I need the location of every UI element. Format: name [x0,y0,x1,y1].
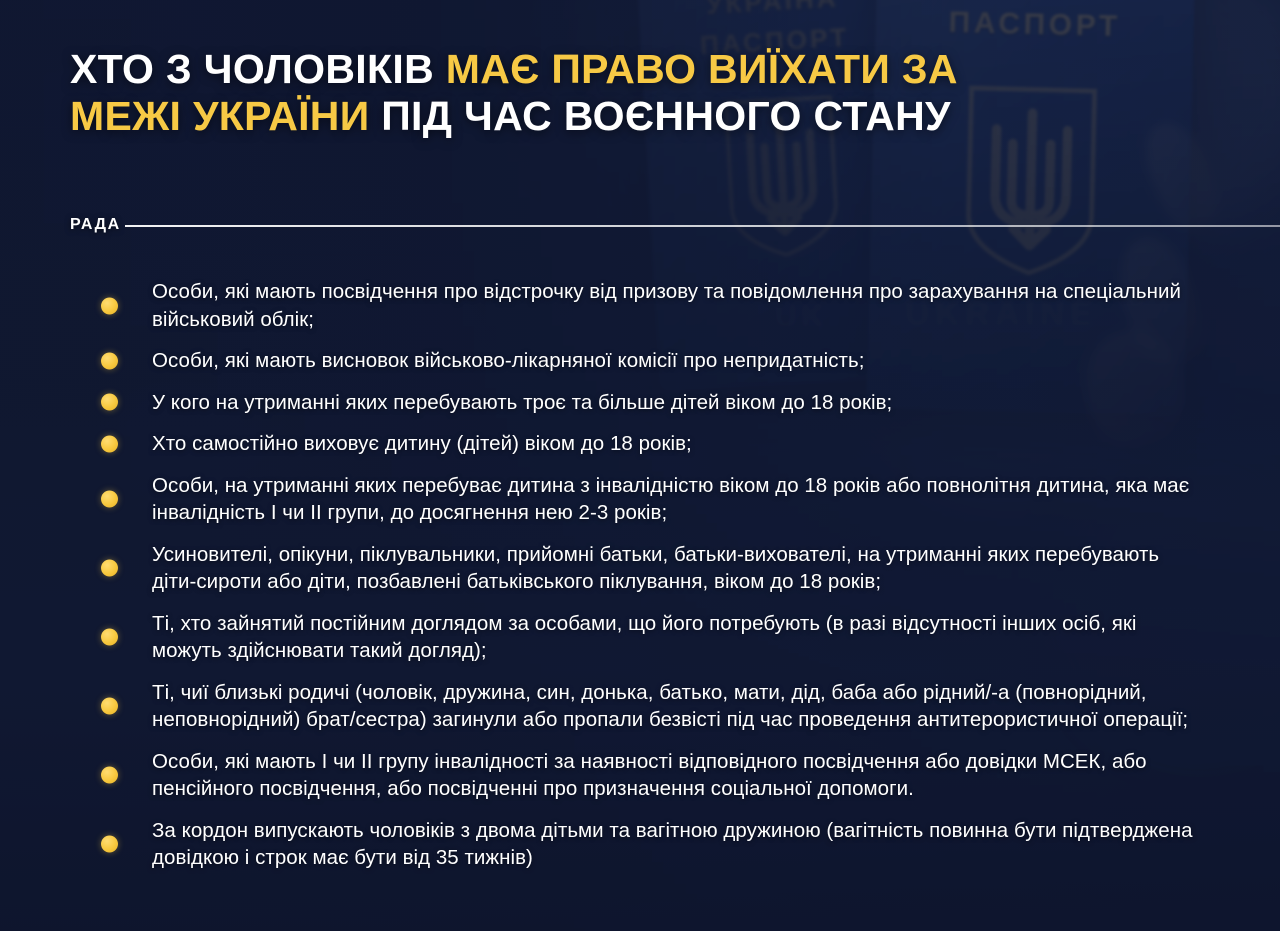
list-item-text: Ті, чиї близькі родичі (чоловік, дружина… [152,679,1206,734]
brand-divider-rule [125,225,1280,227]
bullet-dot-icon [101,297,118,314]
bullet-dot-icon [101,698,118,715]
list-item: Хто самостійно виховує дитину (дітей) ві… [96,430,1206,458]
list-item-text: Особи, які мають висновок військово-ліка… [152,347,864,375]
list-item-text: Ті, хто зайнятий постійним доглядом за о… [152,610,1206,665]
list-item-text: Усиновителі, опікуни, піклувальники, при… [152,541,1206,596]
list-item: Ті, чиї близькі родичі (чоловік, дружина… [96,679,1206,734]
bullet-dot-icon [101,491,118,508]
bullet-dot-icon [101,629,118,646]
list-item-text: Особи, які мають I чи II групу інвалідно… [152,748,1206,803]
page-title-segment-2: ПІД ЧАС ВОЄННОГО СТАНУ [381,93,951,139]
list-item: За кордон випускають чоловіків з двома д… [96,817,1206,872]
page-title-segment-0: ХТО З ЧОЛОВІКІВ [70,46,446,92]
list-item: Ті, хто зайнятий постійним доглядом за о… [96,610,1206,665]
list-item: Особи, які мають I чи II групу інвалідно… [96,748,1206,803]
brand-label: РАДА [70,216,125,234]
bullet-dot-icon [101,767,118,784]
bullet-dot-icon [101,435,118,452]
list-item-text: У кого на утриманні яких перебувають тро… [152,389,892,417]
list-item-text: За кордон випускають чоловіків з двома д… [152,817,1206,872]
list-item: Усиновителі, опікуни, піклувальники, при… [96,541,1206,596]
bullet-dot-icon [101,560,118,577]
bullet-dot-icon [101,394,118,411]
brand-row: РАДА [70,212,1280,238]
list-item: Особи, на утриманні яких перебуває дитин… [96,472,1206,527]
list-item-text: Особи, які мають посвідчення про відстро… [152,278,1206,333]
infographic-poster: УКРАЇНА ПАСПОРТ УКРАЇНА ПАСПОРТ UK UKRAI… [0,0,1280,931]
bullet-dot-icon [101,352,118,369]
list-item: У кого на утриманні яких перебувають тро… [96,389,1206,417]
page-title: ХТО З ЧОЛОВІКІВ МАЄ ПРАВО ВИЇХАТИ ЗА МЕЖ… [70,46,1060,140]
passport-document-label: ПАСПОРТ [875,4,1194,46]
list-item: Особи, які мають посвідчення про відстро… [96,278,1206,333]
passport-country-label: УКРАЇНА [638,0,907,25]
eligibility-list: Особи, які мають посвідчення про відстро… [96,278,1206,872]
list-item-text: Хто самостійно виховує дитину (дітей) ві… [152,430,692,458]
bullet-dot-icon [101,836,118,853]
list-item-text: Особи, на утриманні яких перебуває дитин… [152,472,1206,527]
list-item: Особи, які мають висновок військово-ліка… [96,347,1206,375]
